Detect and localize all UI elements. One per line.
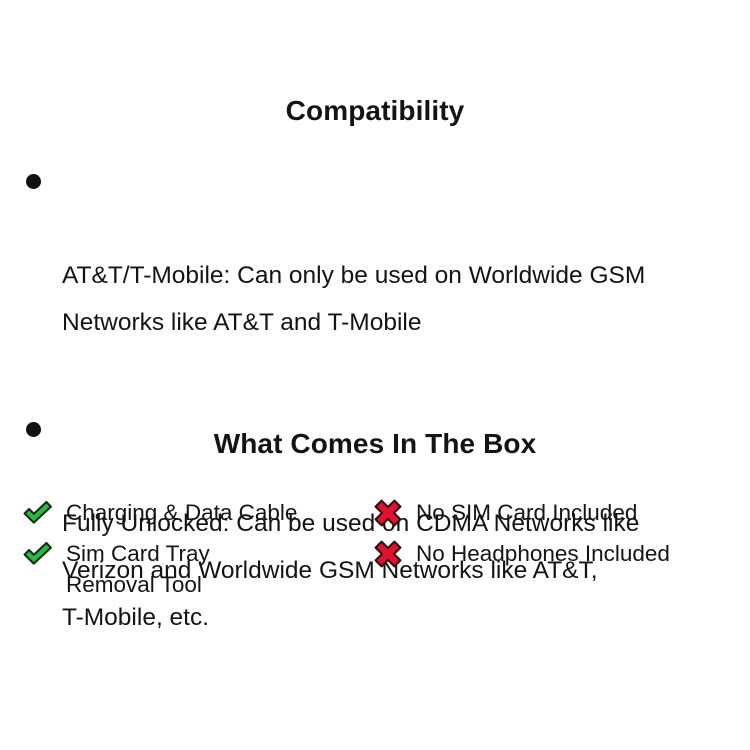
red-cross-icon xyxy=(372,497,404,529)
compatibility-heading: Compatibility xyxy=(0,95,750,127)
green-check-icon xyxy=(22,538,54,570)
box-contents-heading: What Comes In The Box xyxy=(0,428,750,460)
red-cross-icon xyxy=(372,538,404,570)
green-check-icon xyxy=(22,497,54,529)
list-item-label: Sim Card Tray Removal Tool xyxy=(66,537,210,600)
product-info-panel: Compatibility AT&T/T-Mobile: Can only be… xyxy=(0,0,750,750)
round-bullet-icon xyxy=(26,174,41,189)
list-item: AT&T/T-Mobile: Can only be used on World… xyxy=(22,158,734,393)
list-item: Sim Card Tray Removal Tool xyxy=(22,537,372,600)
list-item: Charging & Data Cable xyxy=(22,496,372,529)
box-contents-grid: Charging & Data Cable No SIM Card Includ… xyxy=(22,496,734,600)
list-item-label: AT&T/T-Mobile: Can only be used on World… xyxy=(62,252,734,346)
list-item-label: Charging & Data Cable xyxy=(66,496,297,528)
list-item: No Headphones Included xyxy=(372,537,722,600)
list-item-label: No Headphones Included xyxy=(416,537,670,569)
list-item-label: No SIM Card Included xyxy=(416,496,637,528)
list-item: No SIM Card Included xyxy=(372,496,722,529)
